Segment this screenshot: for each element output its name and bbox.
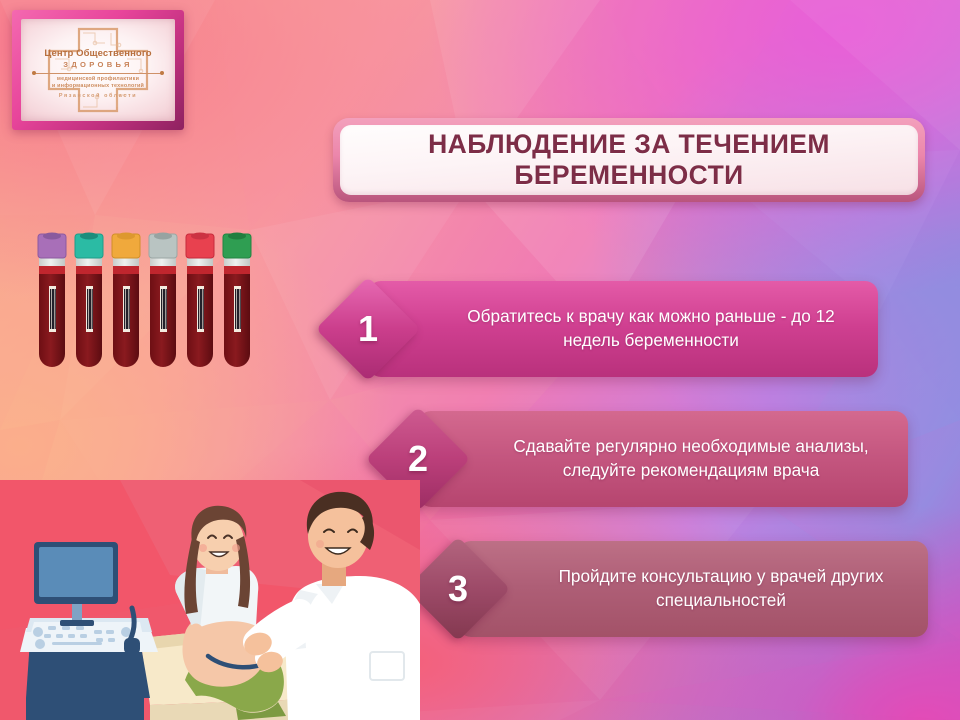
step-bar-1: Обратитесь к врачу как можно раньше - до… xyxy=(368,281,878,377)
organization-logo-plaque: Центр Общественного ЗДОРОВЬЯ медицинской… xyxy=(12,10,184,130)
step-bar-3: Пройдите консультацию у врачей других сп… xyxy=(458,541,928,637)
logo-line-4: и информационных технологий xyxy=(29,83,167,91)
page-title: НАБЛЮДЕНИЕ ЗА ТЕЧЕНИЕМ БЕРЕМЕННОСТИ xyxy=(418,129,840,191)
step-bar-2: Сдавайте регулярно необходимые анализы, … xyxy=(418,411,908,507)
step-number-2: 2 xyxy=(408,441,428,477)
logo-inner-panel: Центр Общественного ЗДОРОВЬЯ медицинской… xyxy=(21,19,175,121)
title-banner-inner: НАБЛЮДЕНИЕ ЗА ТЕЧЕНИЕМ БЕРЕМЕННОСТИ xyxy=(340,125,918,195)
infographic-poster: Центр Общественного ЗДОРОВЬЯ медицинской… xyxy=(0,0,960,720)
logo-line-1: Центр Общественного xyxy=(29,49,167,59)
step-number-1: 1 xyxy=(358,311,378,347)
step-text-1: Обратитесь к врачу как можно раньше - до… xyxy=(368,305,878,352)
step-number-3: 3 xyxy=(448,571,468,607)
ultrasound-examination-illustration xyxy=(0,480,420,720)
step-item-3: Пройдите консультацию у врачей других сп… xyxy=(458,541,928,637)
logo-line-2: ЗДОРОВЬЯ xyxy=(29,60,167,71)
logo-divider-rule xyxy=(33,73,163,74)
logo-text-block: Центр Общественного ЗДОРОВЬЯ медицинской… xyxy=(29,49,167,100)
page-title-line-1: НАБЛЮДЕНИЕ ЗА ТЕЧЕНИЕМ xyxy=(428,129,830,159)
logo-line-5: Рязанской области xyxy=(29,92,167,100)
blood-test-tubes-illustration xyxy=(30,228,260,378)
step-text-2: Сдавайте регулярно необходимые анализы, … xyxy=(418,435,908,482)
page-title-line-2: БЕРЕМЕННОСТИ xyxy=(514,160,743,190)
step-text-3: Пройдите консультацию у врачей других сп… xyxy=(458,565,928,612)
step-item-2: Сдавайте регулярно необходимые анализы, … xyxy=(418,411,908,507)
title-banner: НАБЛЮДЕНИЕ ЗА ТЕЧЕНИЕМ БЕРЕМЕННОСТИ xyxy=(333,118,925,202)
step-item-1: Обратитесь к врачу как можно раньше - до… xyxy=(368,281,878,377)
